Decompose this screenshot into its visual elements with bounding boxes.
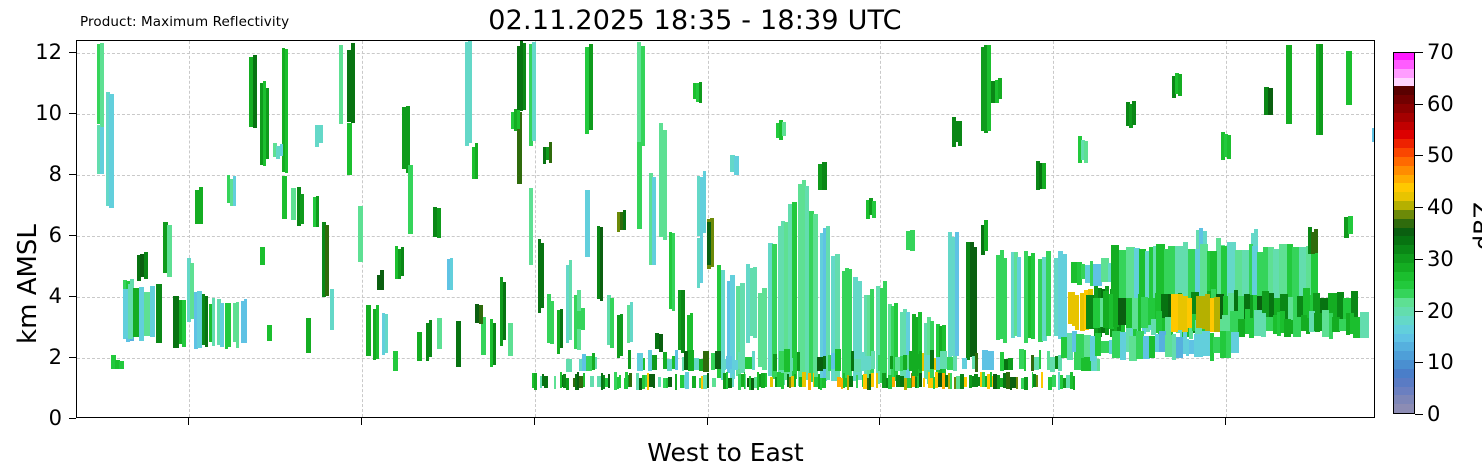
reflectivity-cell xyxy=(883,281,887,386)
reflectivity-cell xyxy=(167,225,172,277)
colorbar-band xyxy=(1394,350,1414,360)
reflectivity-cell xyxy=(417,332,423,362)
y-axis-title: km AMSL xyxy=(13,164,43,404)
reflectivity-cell xyxy=(253,55,258,128)
y-tick-label: 0 xyxy=(49,406,62,430)
colorbar-band xyxy=(1394,386,1414,396)
colorbar-band xyxy=(1394,147,1414,157)
reflectivity-cell xyxy=(100,127,104,173)
reflectivity-cell xyxy=(703,351,710,372)
reflectivity-cell xyxy=(282,176,288,220)
reflectivity-cell xyxy=(1046,251,1051,336)
reflectivity-cell xyxy=(437,318,443,349)
reflectivity-cell xyxy=(782,122,786,136)
x-axis: West to East xyxy=(76,418,1375,470)
reflectivity-cell xyxy=(1372,128,1375,142)
reflectivity-cell xyxy=(1003,258,1007,343)
reflectivity-cell xyxy=(794,374,796,387)
reflectivity-cell xyxy=(144,252,148,279)
reflectivity-cell xyxy=(1008,358,1012,370)
reflectivity-cell xyxy=(1042,163,1046,188)
colorbar-band xyxy=(1394,130,1414,140)
reflectivity-cell xyxy=(595,357,598,369)
y-tick-mark xyxy=(69,113,76,114)
reflectivity-cell xyxy=(503,282,507,340)
reflectivity-cell xyxy=(1348,216,1353,235)
reflectivity-cell xyxy=(1024,377,1028,390)
reflectivity-cell xyxy=(1075,295,1079,330)
reflectivity-cell xyxy=(1227,135,1231,159)
reflectivity-cell xyxy=(119,361,124,370)
reflectivity-cell xyxy=(366,305,372,356)
reflectivity-cell xyxy=(692,376,696,388)
reflectivity-cell xyxy=(707,222,712,265)
reflectivity-cell xyxy=(150,286,155,338)
reflectivity-cell xyxy=(544,376,548,388)
reflectivity-cell xyxy=(988,351,993,370)
reflectivity-cell xyxy=(144,292,150,336)
reflectivity-cell xyxy=(1360,312,1368,338)
reflectivity-data xyxy=(77,41,1374,417)
reflectivity-cell xyxy=(964,377,967,387)
reflectivity-cell xyxy=(955,232,959,356)
reflectivity-cell xyxy=(182,300,186,347)
colorbar-band xyxy=(1394,262,1414,272)
x-tick-mark xyxy=(1052,418,1053,425)
colorbar-tick-mark xyxy=(1415,207,1423,208)
reflectivity-cell xyxy=(566,378,569,389)
colorbar-band xyxy=(1394,94,1414,104)
reflectivity-cell xyxy=(139,287,144,340)
y-axis: km AMSL 024681012 xyxy=(0,40,76,418)
colorbar-tick-label: 30 xyxy=(1427,247,1454,271)
colorbar-tick-label: 10 xyxy=(1427,350,1454,374)
reflectivity-cell xyxy=(822,378,826,388)
reflectivity-cell xyxy=(1052,375,1056,386)
reflectivity-cell xyxy=(878,355,884,371)
colorbar-band xyxy=(1394,403,1414,413)
page-title: 02.11.2025 18:35 - 18:39 UTC xyxy=(0,5,1390,36)
reflectivity-cell xyxy=(998,78,1002,99)
colorbar-band xyxy=(1394,315,1414,325)
x-tick-mark xyxy=(534,418,535,425)
colorbar-band xyxy=(1394,297,1414,307)
y-tick-mark xyxy=(69,296,76,297)
x-axis-title: West to East xyxy=(76,438,1375,467)
reflectivity-cell xyxy=(220,303,224,347)
reflectivity-cell xyxy=(285,49,289,173)
reflectivity-cell xyxy=(560,309,564,348)
reflectivity-cell xyxy=(1314,229,1318,253)
reflectivity-cell xyxy=(1073,376,1075,390)
reflectivity-cell xyxy=(1031,253,1035,339)
reflectivity-cell xyxy=(871,351,875,370)
y-tick-mark xyxy=(69,418,76,419)
reflectivity-cell xyxy=(1039,350,1041,369)
reflectivity-cell xyxy=(663,130,668,240)
colorbar-tick-mark xyxy=(1415,259,1423,260)
reflectivity-cell xyxy=(1041,372,1044,388)
colorbar-band xyxy=(1394,377,1414,387)
reflectivity-cell xyxy=(762,288,767,370)
reflectivity-cell xyxy=(872,201,876,218)
reflectivity-cell xyxy=(534,373,537,390)
reflectivity-cell xyxy=(468,41,472,143)
colorbar-tick-mark xyxy=(1415,104,1423,105)
y-tick-label: 12 xyxy=(35,40,62,64)
reflectivity-cell xyxy=(319,125,324,143)
reflectivity-cell xyxy=(508,323,514,356)
reflectivity-cell xyxy=(199,187,204,224)
reflectivity-cell xyxy=(586,356,593,372)
x-tick-mark xyxy=(361,418,362,425)
radar-cross-section-figure: Product: Maximum Reflectivity 02.11.2025… xyxy=(0,0,1482,470)
y-tick-label: 4 xyxy=(49,284,62,308)
reflectivity-cell xyxy=(385,314,389,353)
reflectivity-cell xyxy=(658,377,662,387)
colorbar-tick-label: 40 xyxy=(1427,195,1454,219)
reflectivity-cell xyxy=(732,374,735,387)
reflectivity-cell xyxy=(781,373,784,388)
reflectivity-cell xyxy=(456,321,462,367)
reflectivity-cell xyxy=(643,358,645,371)
reflectivity-cell xyxy=(876,373,878,389)
reflectivity-cell xyxy=(940,351,947,369)
reflectivity-cell xyxy=(681,290,685,353)
reflectivity-cell xyxy=(244,299,248,343)
reflectivity-cell xyxy=(668,377,672,387)
colorbar-band xyxy=(1394,200,1414,210)
reflectivity-cell xyxy=(1016,377,1018,390)
colorbar-band xyxy=(1394,280,1414,290)
reflectivity-cell xyxy=(619,375,621,388)
y-tick-mark xyxy=(69,235,76,236)
reflectivity-cell xyxy=(890,356,893,370)
reflectivity-cell xyxy=(823,356,826,369)
colorbar-band xyxy=(1394,333,1414,343)
colorbar-band xyxy=(1394,103,1414,113)
reflectivity-cell xyxy=(109,94,113,209)
reflectivity-cell xyxy=(630,302,634,342)
reflectivity-cell xyxy=(128,284,133,339)
reflectivity-cell xyxy=(854,359,861,372)
reflectivity-cell xyxy=(549,142,553,163)
reflectivity-cell xyxy=(652,177,656,265)
x-tick-mark xyxy=(707,418,708,425)
y-tick-label: 6 xyxy=(49,223,62,247)
reflectivity-cell xyxy=(1178,74,1182,96)
colorbar-band xyxy=(1394,86,1414,96)
colorbar-band xyxy=(1394,121,1414,131)
reflectivity-cell xyxy=(707,373,709,388)
reflectivity-cell xyxy=(892,377,895,387)
reflectivity-cell xyxy=(620,314,624,356)
reflectivity-cell xyxy=(745,357,752,369)
reflectivity-cell xyxy=(808,373,811,390)
y-tick-label: 2 xyxy=(49,345,62,369)
colorbar-ticks: 010203040506070 xyxy=(1415,52,1475,414)
colorbar-band xyxy=(1394,227,1414,237)
reflectivity-cell xyxy=(975,353,978,372)
reflectivity-cell xyxy=(123,289,128,338)
colorbar-band xyxy=(1394,52,1414,60)
reflectivity-cell xyxy=(156,284,162,343)
reflectivity-cell xyxy=(406,106,411,172)
colorbar-band xyxy=(1394,209,1414,219)
reflectivity-cell xyxy=(770,377,772,387)
colorbar-band xyxy=(1394,156,1414,166)
reflectivity-cell xyxy=(493,323,497,365)
reflectivity-cell xyxy=(376,305,380,359)
reflectivity-cell xyxy=(1286,45,1292,124)
y-tick-label: 8 xyxy=(49,162,62,186)
colorbar-band xyxy=(1394,368,1414,378)
reflectivity-cell xyxy=(784,349,791,371)
reflectivity-cell xyxy=(835,349,841,371)
colorbar-band xyxy=(1394,244,1414,254)
colorbar-tick-mark xyxy=(1415,362,1423,363)
reflectivity-cell xyxy=(429,320,433,357)
colorbar-band xyxy=(1394,324,1414,334)
y-tick-mark xyxy=(69,174,76,175)
reflectivity-cell xyxy=(100,43,104,127)
colorbar-band xyxy=(1394,191,1414,201)
reflectivity-cell xyxy=(550,301,554,344)
reflectivity-cell xyxy=(906,312,910,384)
reflectivity-cell xyxy=(306,318,312,352)
colorbar-band xyxy=(1394,395,1414,405)
reflectivity-cell xyxy=(408,165,414,234)
reflectivity-cell xyxy=(958,121,962,146)
x-tick-mark xyxy=(879,418,880,425)
reflectivity-cell xyxy=(652,355,657,370)
colorbar-band xyxy=(1394,271,1414,281)
reflectivity-cell xyxy=(856,375,858,388)
reflectivity-cell xyxy=(569,260,573,340)
reflectivity-cell xyxy=(583,373,585,387)
reflectivity-cell xyxy=(589,44,594,130)
colorbar-band xyxy=(1394,165,1414,175)
reflectivity-cell xyxy=(1132,101,1136,125)
x-tick-mark xyxy=(188,418,189,425)
reflectivity-cell xyxy=(805,359,808,369)
reflectivity-cell xyxy=(393,351,399,371)
colorbar-tick-label: 20 xyxy=(1427,299,1454,323)
colorbar-band xyxy=(1394,253,1414,263)
colorbar-tick-label: 50 xyxy=(1427,143,1454,167)
reflectivity-cell xyxy=(822,162,827,191)
reflectivity-cell xyxy=(765,373,768,387)
colorbar-tick-label: 70 xyxy=(1427,40,1454,64)
reflectivity-cell xyxy=(133,288,139,337)
colorbar-band xyxy=(1394,77,1414,87)
reflectivity-cell xyxy=(233,176,237,206)
reflectivity-cell xyxy=(700,232,704,283)
reflectivity-cell xyxy=(637,142,643,229)
reflectivity-cell xyxy=(380,270,384,290)
reflectivity-cell xyxy=(197,291,201,348)
reflectivity-cell xyxy=(623,210,627,230)
colorbar-tick-label: 0 xyxy=(1427,402,1440,426)
reflectivity-cell xyxy=(752,351,756,371)
reflectivity-cell xyxy=(260,247,266,266)
reflectivity-cell xyxy=(1231,332,1239,352)
reflectivity-cell xyxy=(173,296,179,348)
reflectivity-cell xyxy=(351,43,356,123)
reflectivity-cell xyxy=(267,325,273,341)
reflectivity-cell xyxy=(734,156,739,175)
reflectivity-cell xyxy=(984,220,988,251)
reflectivity-cell xyxy=(566,359,573,372)
reflectivity-cell xyxy=(475,143,479,179)
reflectivity-cell xyxy=(266,88,270,159)
reflectivity-cell xyxy=(699,82,703,103)
reflectivity-cell xyxy=(610,298,614,348)
reflectivity-cell xyxy=(628,350,632,369)
reflectivity-cell xyxy=(1268,88,1273,115)
colorbar-band xyxy=(1394,139,1414,149)
reflectivity-cell xyxy=(316,196,320,227)
plot-area xyxy=(76,40,1375,418)
reflectivity-cell xyxy=(280,144,284,156)
reflectivity-cell xyxy=(529,188,534,265)
colorbar-title: dBZ xyxy=(1469,181,1482,271)
reflectivity-cell xyxy=(1097,359,1100,371)
reflectivity-cell xyxy=(339,45,344,124)
colorbar-band xyxy=(1394,68,1414,78)
colorbar-tick-mark xyxy=(1415,52,1423,53)
reflectivity-cell xyxy=(358,206,364,262)
reflectivity-cell xyxy=(532,42,536,142)
colorbar-band xyxy=(1394,359,1414,369)
reflectivity-cell xyxy=(675,374,678,390)
reflectivity-cell xyxy=(590,376,593,387)
x-tick-mark xyxy=(1225,418,1226,425)
y-tick-mark xyxy=(69,52,76,53)
reflectivity-cell xyxy=(805,186,809,380)
reflectivity-cell xyxy=(236,302,240,348)
colorbar-band xyxy=(1394,59,1414,69)
reflectivity-cell xyxy=(600,227,604,301)
reflectivity-cell xyxy=(437,208,442,238)
reflectivity-cell xyxy=(973,247,977,356)
reflectivity-cell xyxy=(608,374,610,389)
reflectivity-cell xyxy=(347,123,353,175)
reflectivity-cell xyxy=(450,258,454,289)
reflectivity-cell xyxy=(950,373,952,389)
reflectivity-cell xyxy=(1214,297,1219,332)
reflectivity-cell xyxy=(797,352,801,371)
reflectivity-cell xyxy=(712,378,716,387)
colorbar-band xyxy=(1394,236,1414,246)
reflectivity-cell xyxy=(212,298,216,345)
colorbar-tick-label: 60 xyxy=(1427,92,1454,116)
reflectivity-cell xyxy=(1319,44,1323,136)
reflectivity-cell xyxy=(325,225,329,296)
reflectivity-cell xyxy=(732,360,739,371)
colorbar-band xyxy=(1394,342,1414,352)
reflectivity-cell xyxy=(401,247,405,276)
reflectivity-cell xyxy=(773,354,777,371)
reflectivity-cell xyxy=(479,305,484,323)
reflectivity-cell xyxy=(641,46,646,146)
colorbar-tick-mark xyxy=(1415,155,1423,156)
reflectivity-cell xyxy=(672,233,676,311)
reflectivity-cell xyxy=(1062,254,1067,339)
colorbar-band xyxy=(1394,306,1414,316)
reflectivity-cell xyxy=(659,334,664,352)
reflectivity-cell xyxy=(910,230,915,250)
reflectivity-cell xyxy=(585,190,591,258)
reflectivity-cell xyxy=(1036,375,1038,387)
reflectivity-cell xyxy=(1187,298,1192,328)
reflectivity-cell xyxy=(1024,350,1026,372)
reflectivity-cell xyxy=(962,358,967,369)
colorbar-band xyxy=(1394,289,1414,299)
reflectivity-cell xyxy=(554,376,556,389)
colorbar-tick-mark xyxy=(1415,414,1423,415)
reflectivity-cell xyxy=(300,194,304,224)
reflectivity-cell xyxy=(517,110,521,129)
colorbar-band xyxy=(1394,218,1414,228)
reflectivity-cell xyxy=(228,303,232,347)
reflectivity-cell xyxy=(629,373,632,388)
y-tick-label: 10 xyxy=(35,101,62,125)
reflectivity-cell xyxy=(802,372,806,386)
reflectivity-cell xyxy=(541,243,545,308)
reflectivity-cell xyxy=(581,308,586,330)
reflectivity-cell xyxy=(653,374,655,389)
reflectivity-cell xyxy=(523,43,527,110)
y-tick-mark xyxy=(69,357,76,358)
reflectivity-cell xyxy=(1017,257,1021,337)
reflectivity-cell xyxy=(849,376,853,387)
reflectivity-cell xyxy=(1346,51,1352,105)
reflectivity-cell xyxy=(923,378,925,387)
colorbar-tick-mark xyxy=(1415,311,1423,312)
reflectivity-cell xyxy=(675,350,678,371)
reflectivity-cell xyxy=(953,356,957,371)
reflectivity-cell xyxy=(685,372,688,389)
reflectivity-cell xyxy=(1084,141,1088,163)
reflectivity-cell xyxy=(871,373,874,387)
colorbar-band xyxy=(1394,112,1414,122)
colorbar xyxy=(1393,52,1415,414)
colorbar-band xyxy=(1394,183,1414,193)
colorbar-band xyxy=(1394,174,1414,184)
reflectivity-cell xyxy=(330,289,335,330)
reflectivity-cell xyxy=(291,188,297,220)
reflectivity-cell xyxy=(753,267,757,338)
